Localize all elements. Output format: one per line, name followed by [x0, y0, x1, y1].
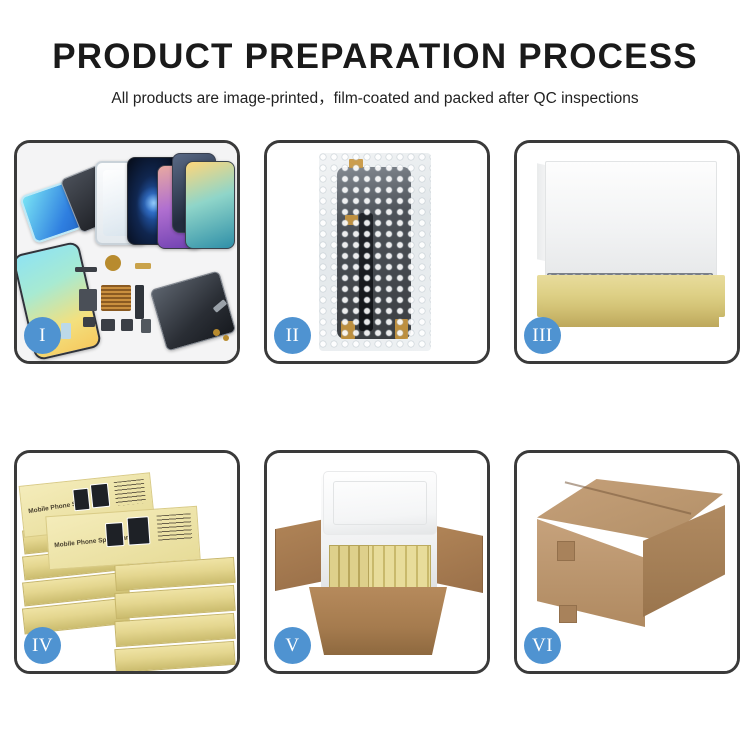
- carton-body: [303, 587, 453, 655]
- flex-cable-icon: [135, 285, 144, 319]
- header: PRODUCT PREPARATION PROCESS All products…: [0, 0, 750, 108]
- box-label-product-swatch: [127, 516, 151, 545]
- carton-tape-tab: [559, 605, 577, 623]
- foam-lid: [323, 471, 437, 535]
- step-badge-5: V: [274, 627, 311, 664]
- box-label-product-swatch: [72, 488, 90, 512]
- carton-right-flap: [431, 525, 483, 593]
- carton-left-flap: [275, 519, 325, 591]
- component-chip-icon: [75, 267, 97, 272]
- carton-front-face: [537, 519, 645, 627]
- tool-tip-icon: [61, 323, 71, 339]
- step-badge-4: IV: [24, 627, 61, 664]
- teal-phone-icon: [185, 161, 235, 249]
- step-card-4[interactable]: Mobile Phone Spare Parts Mobile Phone Sp…: [14, 450, 240, 674]
- step-badge-3: III: [524, 317, 561, 354]
- white-box-lid: [545, 161, 717, 281]
- small-part-icon: [83, 317, 95, 327]
- kraft-box-front-panel: [543, 305, 719, 327]
- box-label-product-swatch: [90, 483, 110, 509]
- button-part-icon: [141, 319, 151, 333]
- step-badge-2: II: [274, 317, 311, 354]
- box-label-spec-lines: [157, 513, 193, 541]
- step-card-3[interactable]: III: [514, 140, 740, 364]
- camera-module-icon: [79, 289, 97, 311]
- step-card-6[interactable]: VI: [514, 450, 740, 674]
- page-title: PRODUCT PREPARATION PROCESS: [0, 38, 750, 77]
- screw-icon: [223, 335, 229, 341]
- bubble-texture-overlay: [319, 153, 431, 351]
- step-badge-1: I: [24, 317, 61, 354]
- box-label-spec-lines: [114, 479, 146, 506]
- screw-icon: [213, 329, 220, 336]
- printed-retail-box-front: Mobile Phone Spare Parts: [45, 506, 200, 570]
- carton-tape-tab: [557, 541, 575, 561]
- bracket-icon: [121, 319, 133, 331]
- step-badge-6: VI: [524, 627, 561, 664]
- step-card-5[interactable]: V: [264, 450, 490, 674]
- box-label-product-swatch: [105, 522, 125, 547]
- connector-icon: [101, 319, 115, 331]
- logic-board-icon: [101, 285, 131, 311]
- process-step-grid: I II III: [14, 140, 736, 674]
- page-subtitle: All products are image-printed，film-coat…: [0, 86, 750, 108]
- yellow-boxes-side-group: [329, 545, 369, 589]
- step-card-2[interactable]: II: [264, 140, 490, 364]
- gold-flex-icon: [135, 263, 151, 269]
- step-card-1[interactable]: I: [14, 140, 240, 364]
- gold-speaker-icon: [105, 255, 121, 271]
- bubble-wrap-pouch: [319, 153, 431, 351]
